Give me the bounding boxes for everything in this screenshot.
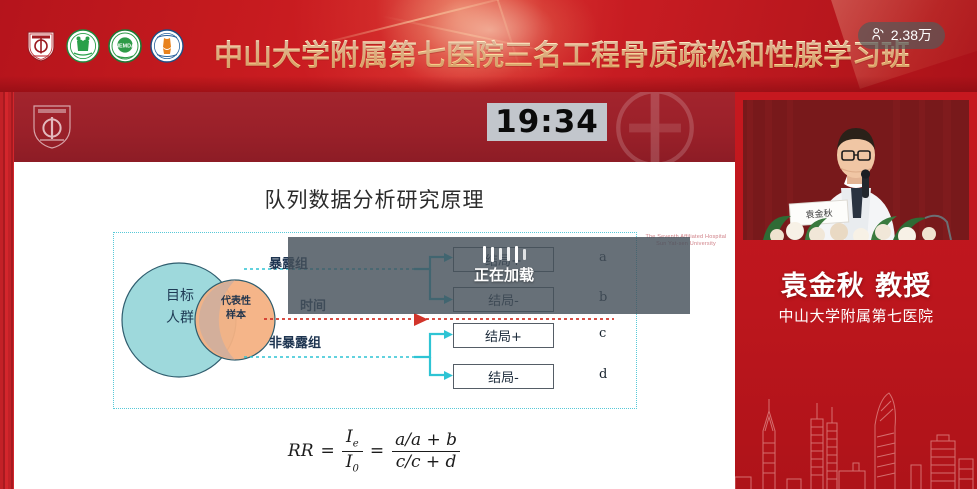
city-skyline-icon — [735, 391, 977, 489]
svg-text:NEMDA: NEMDA — [115, 44, 135, 50]
formula-lhs: RR — [288, 441, 314, 461]
outcome-box-c: 结局+ — [453, 323, 554, 348]
viewer-count-badge: 2.38万 — [858, 22, 945, 49]
slide-left-red-strip — [0, 92, 14, 489]
logo-medical-association-emblem — [66, 29, 100, 63]
logo-orthopedic-society-emblem — [150, 29, 184, 63]
diagram-label-representative-sample: 代表性 样本 — [210, 295, 262, 323]
slide-header-band — [14, 92, 735, 162]
people-icon — [871, 27, 885, 44]
cell-letter-d: d — [599, 367, 607, 382]
viewer-count-value: 2.38万 — [891, 28, 932, 43]
outcome-box-d: 结局- — [453, 364, 554, 389]
formula-fraction-cells: a/a + b c/c + d — [391, 431, 461, 472]
formula-equals-1: = — [321, 441, 335, 461]
event-title: 中山大学附属第七医院三名工程骨质疏松和性腺学习班 — [214, 32, 910, 74]
event-header-banner: NEMDA 中山大学附属第七医院三名工程骨质疏松和性腺学习班 — [0, 0, 977, 92]
speaker-side-panel: 袁金秋 袁金秋 教授 — [735, 92, 977, 489]
sample-line2: 样本 — [210, 309, 262, 323]
loading-bars-icon — [434, 243, 574, 265]
formula-frac2-den: c/c + d — [392, 451, 461, 472]
formula-equals-2: = — [370, 441, 384, 461]
relative-risk-formula: RR = Ie I0 = a/a + b c/c + d — [14, 428, 735, 474]
speaker-organization: 中山大学附属第七医院 — [735, 305, 977, 326]
formula-frac1-den: I0 — [342, 451, 363, 475]
loading-indicator: 正在加载 — [434, 243, 574, 285]
cell-letter-c: c — [599, 326, 606, 341]
organizer-logo-row: NEMDA — [24, 29, 184, 63]
formula-fraction-incidence: Ie I0 — [342, 428, 363, 474]
loading-text: 正在加载 — [434, 265, 574, 285]
formula-frac2-num: a/a + b — [391, 431, 461, 451]
live-stream-page: NEMDA 中山大学附属第七医院三名工程骨质疏松和性腺学习班 — [0, 0, 977, 489]
slide-title: 队列数据分析研究原理 — [14, 184, 735, 214]
header-bottom-fade — [0, 76, 977, 92]
diagram-label-unexposed-group: 非暴露组 — [269, 332, 321, 351]
presentation-timer: 19:34 — [487, 103, 607, 141]
slide-hospital-shield-icon — [32, 104, 72, 150]
formula-frac1-num: Ie — [342, 428, 363, 451]
sample-line1: 代表性 — [210, 295, 262, 309]
logo-nmda-green-seal: NEMDA — [108, 29, 142, 63]
live-video-feed[interactable]: 袁金秋 — [743, 100, 969, 240]
slide-loading-overlay: 正在加载 — [288, 237, 690, 314]
logo-sysu-seventh-hospital-shield — [24, 29, 58, 63]
speaker-name: 袁金秋 教授 — [735, 264, 977, 303]
hospital-watermark-icon — [601, 92, 709, 162]
slide-content: 19:34 The Seventh Affiliated Hospital Su… — [14, 92, 735, 489]
presentation-slide-area[interactable]: 19:34 The Seventh Affiliated Hospital Su… — [0, 92, 735, 489]
